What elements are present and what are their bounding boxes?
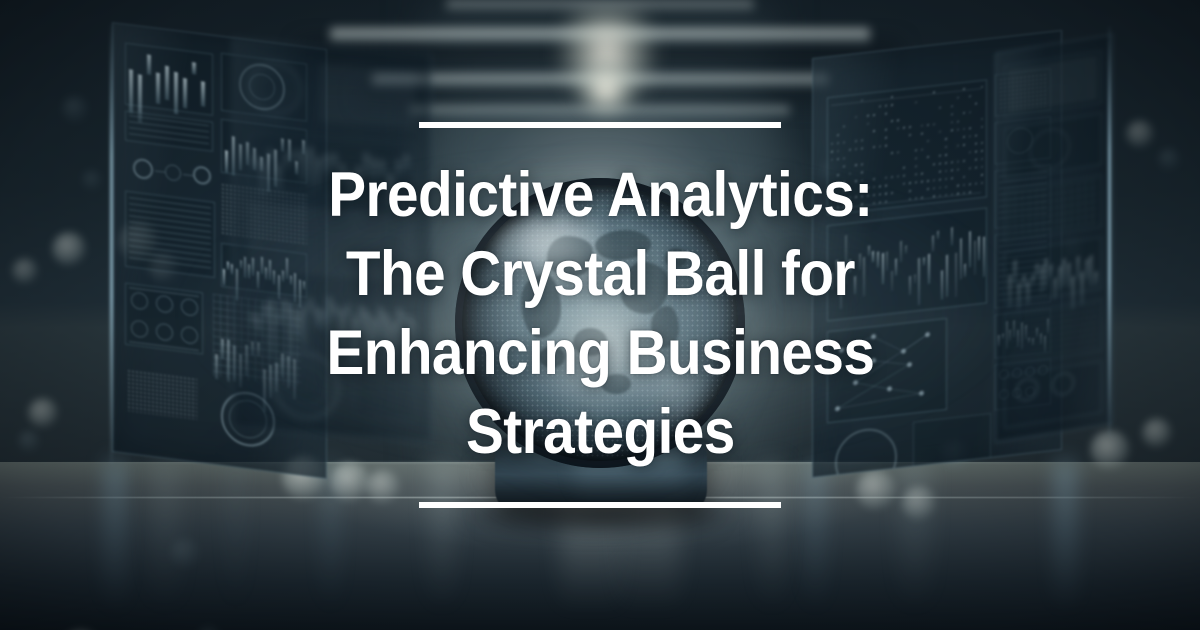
page-title: Predictive Analytics: The Crystal Ball f…: [326, 156, 874, 472]
banner-image: Predictive Analytics: The Crystal Ball f…: [0, 0, 1200, 630]
divider-rule-bottom: [419, 502, 781, 508]
title-block: Predictive Analytics: The Crystal Ball f…: [0, 0, 1200, 630]
divider-rule-top: [419, 122, 781, 128]
